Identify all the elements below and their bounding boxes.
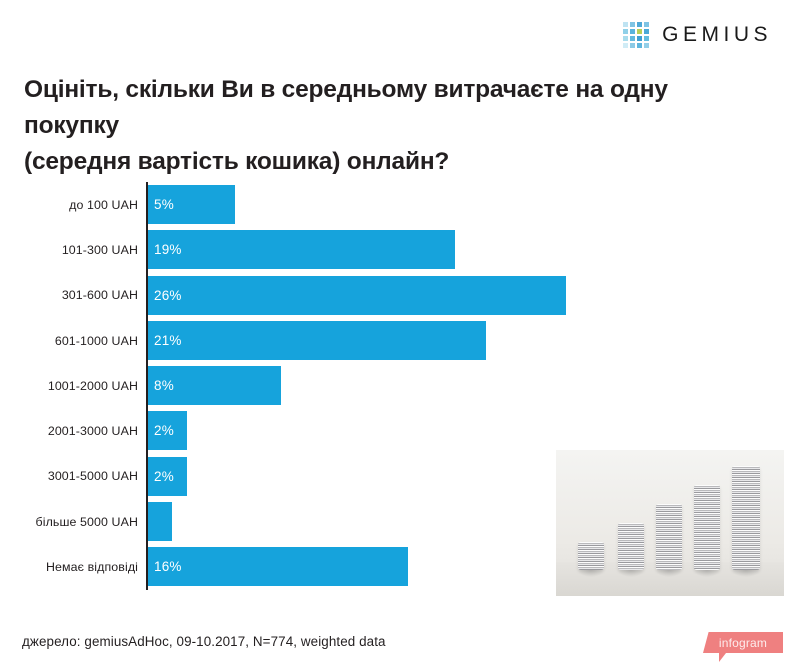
logo-dot [630,36,635,41]
chart-row: до 100 UAH5% [0,182,800,227]
bar-container: 2% [148,411,187,450]
logo-dot [630,29,635,34]
category-label: 2001-3000 UAH [0,424,138,438]
page-header: GEMIUS [0,0,800,62]
category-label: 3001-5000 UAH [0,469,138,483]
logo-dot [623,43,628,48]
chart-row: 2001-3000 UAH2% [0,408,800,453]
bar-value-label: 19% [148,242,182,257]
chart-bar[interactable]: 19% [148,230,455,269]
gemius-logo: GEMIUS [623,22,772,48]
logo-dot [623,22,628,27]
coin-stack [732,466,760,570]
logo-dot [644,43,649,48]
coin-stack [694,485,720,570]
logo-dot [623,36,628,41]
chart-row: 101-300 UAH19% [0,227,800,272]
brand-name: GEMIUS [662,23,772,47]
infogram-label: infogram [703,632,783,653]
coin-stacks-photo [556,450,784,596]
category-label: 301-600 UAH [0,288,138,302]
bar-value-label: 8% [148,378,174,393]
bar-container: 5% [148,185,235,224]
chart-bar[interactable]: 16% [148,547,408,586]
logo-dot [644,29,649,34]
gemius-logo-dot-grid [623,22,649,48]
bar-value-label: 26% [148,288,182,303]
chart-row: 601-1000 UAH21% [0,318,800,363]
logo-dot [630,22,635,27]
category-label: 601-1000 UAH [0,334,138,348]
bar-container: 19% [148,230,455,269]
bar-container: 26% [148,276,566,315]
logo-dot [637,36,642,41]
logo-dot [623,29,628,34]
category-label: 1001-2000 UAH [0,379,138,393]
logo-dot [637,29,642,34]
coin-stack [656,504,682,570]
bar-container: 2% [148,457,187,496]
category-label: Немає відповіді [0,560,138,574]
infogram-bubble-tail [719,653,726,662]
chart-row: 1001-2000 UAH8% [0,363,800,408]
page-title-line-2: (середня вартість кошика) онлайн? [24,144,744,180]
category-label: до 100 UAH [0,198,138,212]
page-title-line-1: Оцініть, скільки Ви в середньому витрача… [24,72,744,144]
chart-bar[interactable]: 21% [148,321,486,360]
bar-container: 21% [148,321,486,360]
logo-dot [644,36,649,41]
bar-container: 16% [148,547,408,586]
bar-value-label: 21% [148,333,182,348]
page-title: Оцініть, скільки Ви в середньому витрача… [24,72,744,179]
bar-value-label: 5% [148,197,174,212]
bar-value-label: 2% [148,469,174,484]
logo-dot [644,22,649,27]
logo-dot [630,43,635,48]
chart-bar[interactable]: 2% [148,457,187,496]
chart-row: 301-600 UAH26% [0,273,800,318]
category-label: 101-300 UAH [0,243,138,257]
coin-stack [578,542,604,570]
category-label: більше 5000 UAH [0,515,138,529]
bar-container: 8% [148,366,281,405]
bar-container [148,502,172,541]
bar-value-label: 16% [148,559,182,574]
chart-bar[interactable]: 2% [148,411,187,450]
chart-bar[interactable]: 8% [148,366,281,405]
chart-bar[interactable] [148,502,172,541]
chart-bar[interactable]: 26% [148,276,566,315]
logo-dot [637,43,642,48]
infogram-badge[interactable]: infogram [703,632,783,653]
bar-value-label: 2% [148,423,174,438]
logo-dot [637,22,642,27]
chart-bar[interactable]: 5% [148,185,235,224]
coin-stack [618,523,644,570]
source-note: джерело: gemiusAdHoc, 09-10.2017, N=774,… [22,634,386,649]
